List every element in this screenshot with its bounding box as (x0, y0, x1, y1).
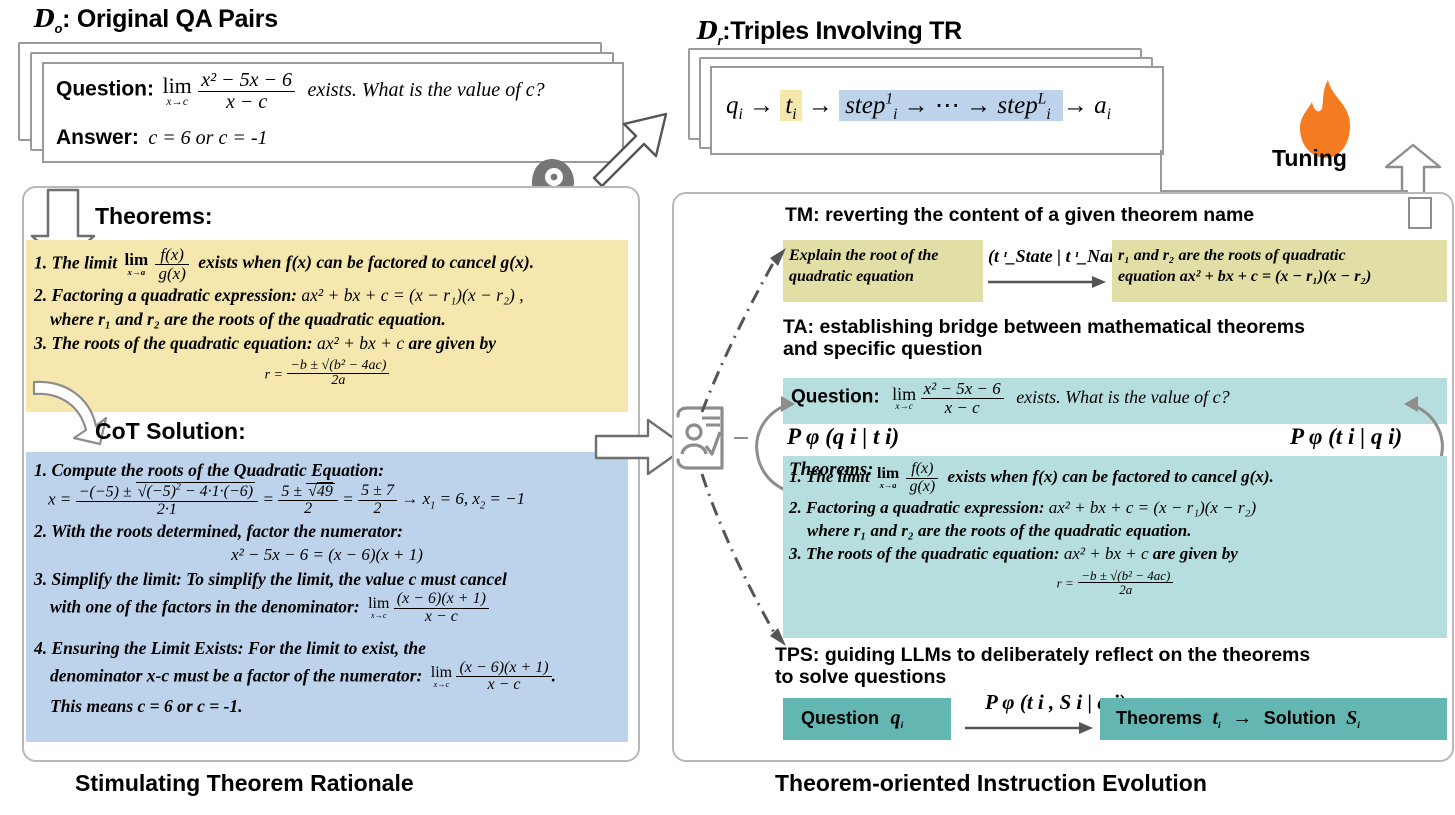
triple-stepL: step (997, 92, 1037, 119)
quadratic-formula-num: −b ± √(b² − 4ac) (287, 359, 389, 375)
triple-arrow-4: → (966, 92, 991, 119)
tps-heading-line1: TPS: guiding LLMs to deliberately reflec… (775, 644, 1310, 667)
ta-quadratic-formula-display: r = −b ± √(b² − 4ac) 2a (783, 569, 1447, 597)
dashdot-connector-to-tm-icon (690, 244, 800, 414)
ta-question-box: Question: lim x→c x² − 5x − 6 x − c exis… (783, 378, 1447, 424)
triple-expression: qi → ti → step1i → ⋯ → stepLi → ai (726, 90, 1111, 124)
tm-arrow-icon (988, 272, 1108, 292)
quadratic-formula-display: r = −b ± √(b² − 4ac) 2a (26, 359, 628, 389)
ta-quadratic-formula-lhs: r = (1057, 575, 1074, 590)
ta-heading-line2: and specific question (783, 338, 982, 361)
ta-theorem-item-1-lim-top: lim (877, 466, 899, 482)
ta-question-lim-bottom: x→c (892, 403, 916, 412)
tps-solution-row: Theorems ti → Solution Si (1116, 707, 1360, 731)
ta-theorem-item-1-pre: 1. The limit (789, 467, 870, 486)
ta-question-row: Question: lim x→c x² − 5x − 6 x − c exis… (791, 380, 1230, 417)
ta-prob-right: P φ (t i | q i) (1290, 424, 1402, 450)
question-tail: exists. What is the value of c? (307, 79, 544, 101)
ta-question-lim-top: lim (892, 385, 916, 403)
theorem-item-1: 1. The limit lim x→a f(x) g(x) exists wh… (34, 246, 620, 283)
ta-theorem-item-2-line2: where r₁ and r₂ are the roots of the qua… (789, 519, 1439, 542)
tps-question-box: Question qi (783, 698, 951, 740)
question-lim-bottom: x→c (162, 97, 191, 108)
question-label: Question: (56, 78, 154, 101)
ta-heading-line1: TA: establishing bridge between mathemat… (783, 316, 1305, 339)
question-frac-numerator: x² − 5x − 6 (198, 70, 295, 92)
tm-right-line1: r₁ and r₂ are the roots of quadratic (1118, 245, 1441, 266)
tps-theorems-symbol-sub: i (1218, 720, 1221, 731)
tps-solution-symbol: S (1346, 707, 1357, 729)
qa-card[interactable]: Question: lim x→c x² − 5x − 6 x − c exis… (42, 62, 624, 163)
ta-theorem-item-1-lim-bottom: x→a (877, 482, 899, 490)
theorem-item-3-post: are given by (408, 333, 495, 353)
cot-item-3-text: with one of the factors in the denominat… (50, 596, 360, 616)
cot-item-2-display: x² − 5x − 6 = (x − 6)(x + 1) (34, 543, 620, 567)
triple-arrow-3: → (904, 92, 929, 119)
theorem-item-1-lim-bottom: x→a (125, 268, 149, 277)
theorem-item-3-line1: 3. The roots of the quadratic equation: … (34, 331, 620, 355)
triple-t-sub: i (792, 106, 796, 123)
ta-question-frac-den: x − c (921, 399, 1004, 417)
arrow-to-triples-icon (588, 90, 678, 190)
answer-value: c = 6 or c = -1 (148, 127, 267, 149)
cot-item-3-frac-num: (x − 6)(x + 1) (394, 591, 489, 609)
right-dataset-label: Dr:Triples Involving TR (697, 16, 962, 48)
triple-step1: step (845, 92, 885, 119)
right-dataset-text: :Triples Involving TR (722, 17, 962, 45)
theorem-item-1-frac-num: f(x) (155, 246, 188, 265)
cot-item-1: 1. Compute the roots of the Quadratic Eq… (34, 458, 620, 482)
tuning-label: Tuning (1272, 145, 1347, 172)
tps-solution-symbol-sub: i (1357, 720, 1360, 731)
theorem-item-2-text: 2. Factoring a quadratic expression: (34, 285, 297, 305)
tm-right-box: r₁ and r₂ are the roots of quadratic equ… (1112, 240, 1447, 302)
left-cot-box: 1. Compute the roots of the Quadratic Eq… (26, 452, 628, 742)
triple-arrow-2: → (808, 92, 833, 119)
theorem-item-1-lim-top: lim (125, 251, 149, 268)
cot-item-4-frac-den: x − c (456, 677, 551, 694)
ta-theorem-item-2-formula: ax² + bx + c = (x − r₁)(x − r₂) (1049, 498, 1256, 517)
theorem-item-3-text: 3. The roots of the quadratic equation: (34, 333, 313, 353)
cot-item-4-line1: 4. Ensuring the Limit Exists: For the li… (34, 636, 620, 660)
left-caption: Stimulating Theorem Rationale (75, 770, 414, 797)
ta-theorem-item-1-frac-num: f(x) (906, 461, 938, 479)
left-dataset-symbol: D (34, 4, 55, 33)
question-frac-denominator: x − c (198, 92, 295, 113)
ta-question-label: Question: (791, 387, 880, 408)
triple-q-sub: i (739, 106, 743, 123)
tm-left-box: Explain the root of the quadratic equati… (783, 240, 983, 302)
triple-steps-highlight: step1i → ⋯ → stepLi (839, 90, 1063, 121)
tps-arrow-icon (965, 718, 1095, 738)
right-dataset-symbol: D (697, 16, 718, 45)
theorems-heading: Theorems: (95, 203, 213, 230)
ta-quadratic-formula-den: 2a (1078, 583, 1173, 597)
triple-card[interactable]: qi → ti → step1i → ⋯ → stepLi → ai (710, 66, 1164, 155)
cot-item-3-line2: with one of the factors in the denominat… (34, 591, 620, 626)
cot-item-3-line1: 3. Simplify the limit: To simplify the l… (34, 567, 620, 591)
tm-left-line1: Explain the root of the (789, 245, 977, 266)
quadratic-formula-lhs: r = (265, 367, 283, 382)
tm-left-line2: quadratic equation (789, 266, 977, 287)
ta-theorem-item-1: 1. The limit lim x→a f(x) g(x) exists wh… (789, 461, 1439, 496)
tps-question-row: Question qi (801, 707, 903, 731)
ta-quadratic-formula-num: −b ± √(b² − 4ac) (1078, 569, 1173, 584)
ta-theorem-item-2-text: 2. Factoring a quadratic expression: (789, 498, 1045, 517)
left-dataset-label: Do: Original QA Pairs (34, 4, 278, 36)
cot-item-4-text: denominator x-c must be a factor of the … (50, 665, 422, 685)
qa-question-row: Question: lim x→c x² − 5x − 6 x − c exis… (56, 70, 545, 113)
theorem-item-1-pre: 1. The limit (34, 252, 117, 272)
triple-dots: ⋯ (935, 92, 960, 119)
cot-item-3-frac-den: x − c (394, 609, 489, 626)
theorem-item-1-frac-den: g(x) (155, 265, 188, 283)
tps-solution-label: Solution (1264, 708, 1336, 728)
ta-prob-left: P φ (q i | t i) (787, 424, 899, 450)
ta-theorem-item-1-frac-den: g(x) (906, 479, 938, 496)
ta-theorems-box: Theorems: 1. The limit lim x→a f(x) g(x)… (783, 456, 1447, 638)
triple-q: q (726, 92, 739, 119)
ta-theorem-item-3-line1: 3. The roots of the quadratic equation: … (789, 542, 1439, 565)
theorem-item-2-formula: ax² + bx + c = (x − r₁)(x − r₂) , (301, 285, 523, 305)
tuning-connector-vertical (1160, 150, 1162, 192)
document-icon (1406, 196, 1434, 230)
tps-question-symbol: q (890, 707, 900, 729)
triple-step1-sub: i (893, 106, 897, 123)
tps-heading-line2: to solve questions (775, 666, 946, 689)
triple-arrow-5: → (1063, 92, 1088, 119)
quadratic-formula-den: 2a (287, 374, 389, 389)
triple-step1-sup: 1 (885, 91, 893, 108)
theorem-item-1-post: exists when f(x) can be factored to canc… (198, 252, 534, 272)
tps-solution-box: Theorems ti → Solution Si (1100, 698, 1447, 740)
dashdot-connector-to-tps-icon (690, 470, 800, 650)
triple-a: a (1094, 92, 1107, 119)
tm-heading: TM: reverting the content of a given the… (785, 204, 1254, 227)
cot-heading: CoT Solution: (95, 418, 246, 445)
ta-theorem-item-3-formula: ax² + bx + c (1064, 544, 1149, 563)
cot-item-2: 2. With the roots determined, factor the… (34, 519, 620, 543)
ta-theorem-item-3-text: 3. The roots of the quadratic equation: (789, 544, 1060, 563)
theorem-item-2-line2: where r₁ and r₂ are the roots of the qua… (34, 307, 620, 331)
ta-question-frac-num: x² − 5x − 6 (921, 380, 1004, 399)
answer-label: Answer: (56, 126, 139, 149)
left-dataset-text: : Original QA Pairs (62, 5, 278, 33)
question-lim-top: lim (162, 75, 191, 97)
triple-t-highlight: ti (780, 90, 801, 121)
person-doc-connector (734, 437, 748, 439)
cot-item-4-frac-num: (x − 6)(x + 1) (456, 660, 551, 678)
tps-theorems-label: Theorems (1116, 708, 1202, 728)
ta-question-tail: exists. What is the value of c? (1016, 387, 1229, 407)
cot-item-1-display: x = −(−5) ± √(−5)2 − 4·1·(−6) 2·1 = 5 ± … (34, 482, 620, 519)
triple-a-sub: i (1107, 106, 1111, 123)
tps-arrow-glyph: → (1232, 707, 1252, 729)
left-theorems-box: 1. The limit lim x→a f(x) g(x) exists wh… (26, 240, 628, 412)
triple-stepL-sub: i (1046, 106, 1050, 123)
cot-item-4-line3: This means c = 6 or c = -1. (34, 694, 620, 718)
theorem-item-3-formula: ax² + bx + c (317, 333, 404, 353)
tm-right-line2: equation ax² + bx + c = (x − r₁)(x − r₂) (1118, 266, 1441, 287)
right-caption: Theorem-oriented Instruction Evolution (775, 770, 1207, 797)
qa-answer-row: Answer: c = 6 or c = -1 (56, 126, 268, 150)
ta-theorem-item-2-line1: 2. Factoring a quadratic expression: ax²… (789, 496, 1439, 519)
cot-item-4-line2: denominator x-c must be a factor of the … (34, 660, 620, 695)
tps-question-label: Question (801, 708, 879, 728)
ta-theorem-item-3-post: are given by (1153, 544, 1238, 563)
tps-question-symbol-sub: i (900, 720, 903, 731)
theorem-item-2-line1: 2. Factoring a quadratic expression: ax²… (34, 283, 620, 307)
triple-arrow-1: → (749, 92, 774, 119)
ta-theorem-item-1-post: exists when f(x) can be factored to canc… (947, 467, 1273, 486)
